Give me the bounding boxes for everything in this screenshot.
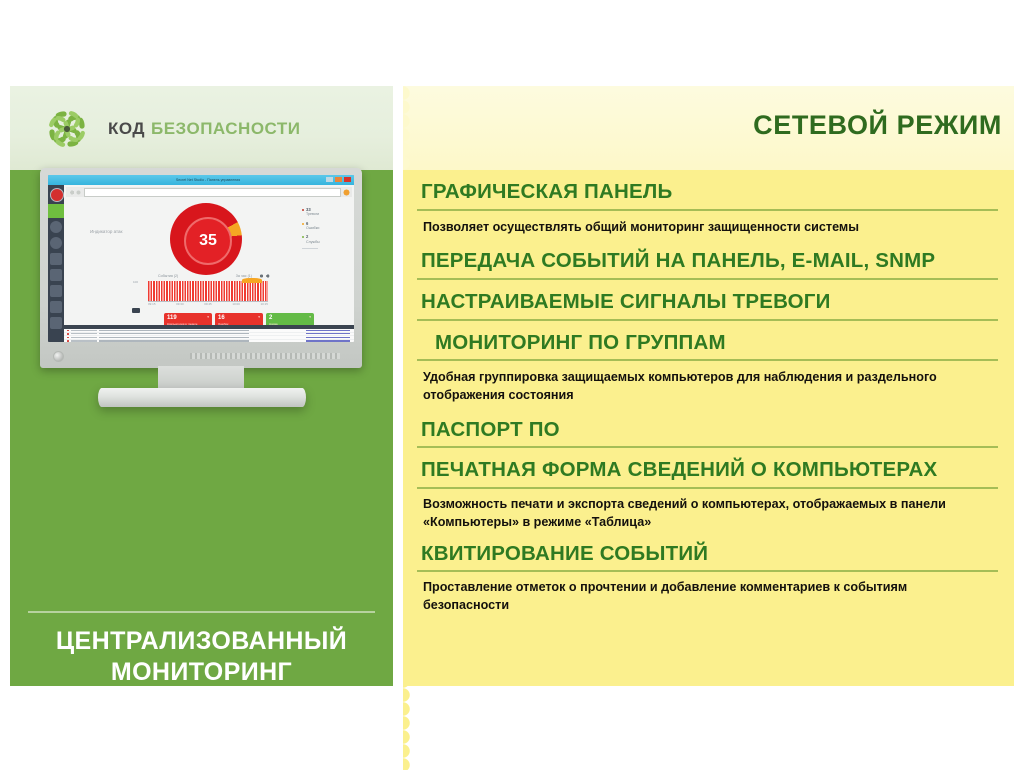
legend-dot-icon bbox=[302, 236, 304, 238]
section-title: КВИТИРОВАНИЕ СОБЫТИЙ bbox=[417, 538, 1002, 571]
legend-divider bbox=[302, 248, 318, 249]
app-content: 35 Индикатор атак 33 Трев bbox=[64, 185, 354, 342]
chart-x-axis: 09:15 09:30 09:45 10:00 10:15 bbox=[148, 302, 268, 306]
sidebar-icon-computers[interactable] bbox=[50, 253, 62, 265]
trend-icon: ▾ bbox=[207, 315, 209, 319]
monitor-vents bbox=[190, 353, 340, 359]
sidebar-icon-shield[interactable] bbox=[48, 204, 64, 218]
app-sidebar[interactable] bbox=[48, 185, 64, 342]
caption-line-1: ЦЕНТРАЛИЗОВАННЫЙ bbox=[10, 626, 393, 657]
section-rule bbox=[417, 359, 998, 361]
slide-root: КОД БЕЗОПАСНОСТИ Secret Net Studio - Пан… bbox=[0, 0, 1024, 767]
chart-left-label: События (2) bbox=[158, 274, 178, 278]
header-band: СЕТЕВОЙ РЕЖИМ bbox=[403, 86, 1014, 170]
feature-section-5: ПЕЧАТНАЯ ФОРМА СВЕДЕНИЙ О КОМПЬЮТЕРАХ Во… bbox=[417, 454, 1002, 537]
severity-icon bbox=[67, 337, 69, 339]
maximize-icon[interactable] bbox=[335, 177, 342, 182]
brand-wordmark: КОД БЕЗОПАСНОСТИ bbox=[108, 119, 301, 139]
caption-divider bbox=[28, 611, 375, 613]
donut-center: 35 bbox=[184, 217, 232, 265]
brand-name-bez: БЕЗОПАСНОСТИ bbox=[151, 119, 301, 139]
events-table[interactable] bbox=[64, 325, 354, 342]
legend-item: 2 Службы bbox=[302, 234, 348, 244]
pinwheel-logo-icon bbox=[38, 100, 96, 158]
nav-back-forward-icon[interactable] bbox=[68, 189, 82, 196]
section-body: Удобная группировка защищаемых компьютер… bbox=[417, 361, 1002, 414]
sidebar-icon-monitor[interactable] bbox=[50, 237, 62, 249]
monitor-caption: ЦЕНТРАЛИЗОВАННЫЙ МОНИТОРИНГ bbox=[10, 626, 393, 687]
feature-section-2: НАСТРАИВАЕМЫЕ СИГНАЛЫ ТРЕВОГИ bbox=[417, 286, 1002, 321]
events-bar-chart: События (2) За час (1) 100 0 bbox=[134, 281, 274, 309]
monitor-screen: Secret Net Studio - Панель управления bbox=[48, 175, 354, 342]
feature-section-1: ПЕРЕДАЧА СОБЫТИЙ НА ПАНЕЛЬ, E-MAIL, SNMP bbox=[417, 245, 1002, 280]
sidebar-icon-documents[interactable] bbox=[50, 269, 62, 281]
minimize-icon[interactable] bbox=[326, 177, 333, 182]
monitor-illustration: Secret Net Studio - Панель управления bbox=[40, 168, 362, 418]
monitor-panel: Secret Net Studio - Панель управления bbox=[10, 170, 393, 686]
severity-icon bbox=[67, 330, 69, 332]
section-title: НАСТРАИВАЕМЫЕ СИГНАЛЫ ТРЕВОГИ bbox=[417, 286, 1002, 319]
tile-value: 16 bbox=[218, 315, 260, 321]
sidebar-icon-table[interactable] bbox=[50, 301, 62, 313]
donut-label: Индикатор атак bbox=[90, 229, 122, 234]
chart-highlight bbox=[242, 278, 262, 283]
section-rule bbox=[417, 319, 998, 321]
window-controls[interactable] bbox=[326, 177, 351, 182]
legend-dot-icon bbox=[302, 209, 304, 211]
table-row[interactable] bbox=[64, 340, 354, 342]
sidebar-icon-gear[interactable] bbox=[50, 221, 62, 233]
close-icon[interactable] bbox=[344, 177, 351, 182]
section-title: МОНИТОРИНГ ПО ГРУППАМ bbox=[417, 327, 1002, 360]
chart-y-max: 100 bbox=[133, 280, 138, 284]
section-body: Позволяет осуществлять общий мониторинг … bbox=[417, 211, 1002, 246]
address-bar[interactable] bbox=[66, 187, 352, 197]
monitor-chin bbox=[40, 344, 362, 368]
donut-legend: 33 Тревоги 6 Ошибки bbox=[302, 207, 348, 251]
chart-bars bbox=[148, 281, 268, 302]
section-title: ГРАФИЧЕСКАЯ ПАНЕЛЬ bbox=[417, 176, 1002, 209]
feature-section-3: МОНИТОРИНГ ПО ГРУППАМ Удобная группировк… bbox=[417, 327, 1002, 414]
trend-icon: ▾ bbox=[309, 315, 311, 319]
section-title: ПЕРЕДАЧА СОБЫТИЙ НА ПАНЕЛЬ, E-MAIL, SNMP bbox=[417, 245, 1002, 278]
brand-name-kod: КОД bbox=[108, 119, 145, 139]
trend-icon: ▾ bbox=[258, 315, 260, 319]
legend-item: 6 Ошибки bbox=[302, 221, 348, 231]
add-icon[interactable] bbox=[343, 189, 350, 196]
sidebar-icon-alert[interactable] bbox=[50, 188, 64, 202]
caption-line-2: МОНИТОРИНГ bbox=[10, 657, 393, 688]
app-window: Secret Net Studio - Панель управления bbox=[48, 175, 354, 342]
legend-item: 33 Тревоги bbox=[302, 207, 348, 217]
tile-value: 2 bbox=[269, 315, 311, 321]
x-tick: 09:30 bbox=[176, 302, 184, 306]
x-tick: 09:15 bbox=[148, 302, 156, 306]
brand-logo: КОД БЕЗОПАСНОСТИ bbox=[38, 100, 301, 158]
chart-badge bbox=[132, 308, 140, 313]
x-tick: 10:00 bbox=[232, 302, 240, 306]
feature-section-4: ПАСПОРТ ПО bbox=[417, 414, 1002, 449]
window-title: Secret Net Studio - Панель управления bbox=[138, 176, 278, 184]
sidebar-icon-reports[interactable] bbox=[50, 285, 62, 297]
section-rule bbox=[417, 446, 998, 448]
section-rule bbox=[417, 209, 998, 211]
right-column: СЕТЕВОЙ РЕЖИМ ГРАФИЧЕСКАЯ ПАНЕЛЬ Позволя… bbox=[393, 86, 1014, 686]
feature-list: ГРАФИЧЕСКАЯ ПАНЕЛЬ Позволяет осуществлят… bbox=[403, 170, 1014, 686]
section-title: ПАСПОРТ ПО bbox=[417, 414, 1002, 447]
x-tick: 10:15 bbox=[260, 302, 268, 306]
donut-value: 35 bbox=[199, 233, 217, 249]
monitor-bezel: Secret Net Studio - Панель управления bbox=[40, 168, 362, 368]
severity-icon bbox=[67, 340, 69, 342]
section-body: Проставление отметок о прочтении и добав… bbox=[417, 572, 1002, 621]
sidebar-icon-lock[interactable] bbox=[50, 317, 62, 329]
feature-section-6: КВИТИРОВАНИЕ СОБЫТИЙ Проставление отмето… bbox=[417, 538, 1002, 621]
brand-band: КОД БЕЗОПАСНОСТИ bbox=[10, 86, 393, 170]
page-title: СЕТЕВОЙ РЕЖИМ bbox=[753, 110, 1002, 141]
section-rule bbox=[417, 570, 998, 572]
severity-icon bbox=[67, 333, 69, 335]
tile-value: 119 bbox=[167, 315, 209, 321]
legend-dot-icon bbox=[302, 223, 304, 225]
scallop-edge bbox=[403, 170, 415, 770]
window-titlebar: Secret Net Studio - Панель управления bbox=[48, 175, 354, 185]
section-title: ПЕЧАТНАЯ ФОРМА СВЕДЕНИЙ О КОМПЬЮТЕРАХ bbox=[417, 454, 1002, 487]
legend-text: 2 Службы bbox=[306, 234, 320, 244]
legend-text: 33 Тревоги bbox=[306, 207, 319, 217]
x-tick: 09:45 bbox=[204, 302, 212, 306]
left-column: КОД БЕЗОПАСНОСТИ Secret Net Studio - Пан… bbox=[10, 86, 393, 686]
address-input[interactable] bbox=[84, 188, 341, 197]
feature-section-0: ГРАФИЧЕСКАЯ ПАНЕЛЬ Позволяет осуществлят… bbox=[417, 176, 1002, 245]
section-rule bbox=[417, 487, 998, 489]
threat-donut-chart: 35 bbox=[170, 203, 242, 275]
section-rule bbox=[417, 278, 998, 280]
power-button-icon[interactable] bbox=[53, 351, 64, 362]
scallop-edge-top bbox=[403, 86, 415, 170]
legend-text: 6 Ошибки bbox=[306, 221, 319, 231]
monitor-base bbox=[98, 388, 306, 407]
section-body: Возможность печати и экспорта сведений о… bbox=[417, 489, 1002, 538]
